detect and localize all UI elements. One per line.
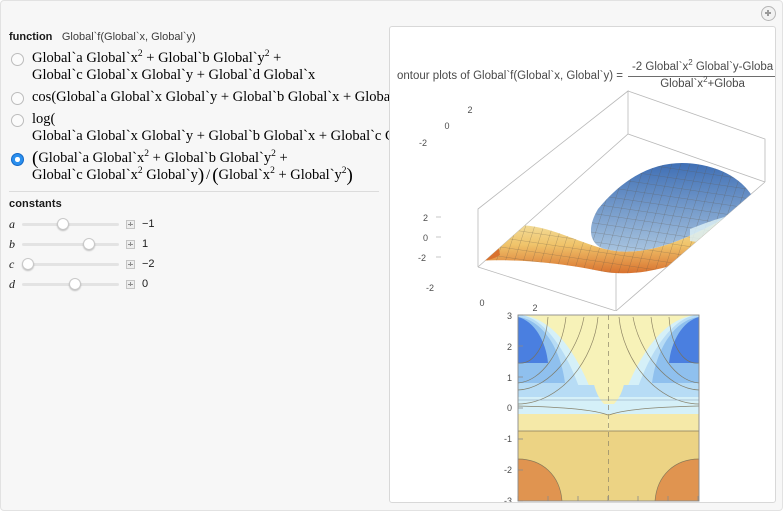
radio-option-cosine[interactable]: cos(Global`a Global`x Global`y + Global`… (11, 88, 381, 106)
svg-text:0: 0 (507, 403, 512, 413)
slider-label-b: b (9, 237, 22, 252)
slider-a[interactable] (22, 216, 119, 232)
plus-circle-icon[interactable] (761, 6, 776, 21)
radio-option-quadratic[interactable]: Global`a Global`x2 + Global`b Global`y2 … (11, 49, 381, 84)
function-section-label: function (9, 31, 52, 43)
radio-option-rational[interactable]: (Global`a Global`x2 + Global`b Global`y2… (11, 149, 381, 184)
function-section-header: function Global`f(Global`x, Global`y) (1, 27, 387, 49)
demonstration-window: function Global`f(Global`x, Global`y) Gl… (0, 0, 783, 511)
slider-row-a: a −1 (1, 214, 387, 234)
function-expression: Global`f(Global`x, Global`y) (62, 31, 196, 43)
radio-option-label: (Global`a Global`x2 + Global`b Global`y2… (32, 149, 353, 184)
surface-x-axis: -2 0 2 (426, 283, 538, 311)
svg-text:2: 2 (507, 342, 512, 352)
radio-icon[interactable] (11, 153, 24, 166)
slider-value-c: −2 (142, 258, 164, 270)
slider-label-a: a (9, 217, 22, 232)
slider-thumb-d[interactable] (69, 278, 81, 290)
svg-text:2: 2 (467, 105, 472, 115)
contour-plot: 3 2 1 0 -1 -2 -3 (390, 311, 776, 503)
svg-text:2: 2 (423, 213, 428, 223)
svg-text:0: 0 (423, 233, 428, 243)
svg-text:1: 1 (507, 373, 512, 383)
slider-track[interactable] (22, 243, 119, 246)
surface-y-axis: 2 0 -2 (419, 105, 473, 148)
svg-text:-2: -2 (504, 465, 512, 475)
fraction-numerator: -2 Global`x2 Global`y-Globa (628, 61, 776, 75)
controls-panel: function Global`f(Global`x, Global`y) Gl… (1, 23, 387, 294)
slider-thumb-a[interactable] (57, 218, 69, 230)
plus-box-icon[interactable] (126, 220, 135, 229)
plus-box-icon[interactable] (126, 260, 135, 269)
svg-text:0: 0 (479, 298, 484, 308)
function-radio-group[interactable]: Global`a Global`x2 + Global`b Global`y2 … (1, 49, 387, 184)
slider-thumb-c[interactable] (22, 258, 34, 270)
surface-z-axis: 2 0 -2 (418, 213, 441, 263)
slider-track[interactable] (22, 263, 119, 266)
output-panel: ontour plots of Global`f(Global`x, Globa… (389, 26, 776, 503)
slider-label-c: c (9, 257, 22, 272)
slider-row-d: d 0 (1, 274, 387, 294)
slider-track[interactable] (22, 223, 119, 226)
slider-b[interactable] (22, 236, 119, 252)
surface-plot-svg: 2 0 -2 2 0 -2 (390, 89, 776, 311)
constants-section-label: constants (1, 198, 387, 210)
svg-text:2: 2 (532, 303, 537, 311)
radio-icon[interactable] (11, 114, 24, 127)
window-topbar (1, 1, 783, 23)
svg-text:0: 0 (444, 121, 449, 131)
plot-title-fraction: -2 Global`x2 Global`y-Globa Global`x2+Gl… (628, 61, 776, 90)
slider-row-b: b 1 (1, 234, 387, 254)
slider-d[interactable] (22, 276, 119, 292)
contour-regions (518, 315, 699, 501)
plus-box-icon[interactable] (126, 240, 135, 249)
slider-thumb-b[interactable] (83, 238, 95, 250)
plus-box-icon[interactable] (126, 280, 135, 289)
svg-text:-3: -3 (504, 496, 512, 503)
constants-sliders: a −1 b 1 c (1, 210, 387, 294)
radio-icon[interactable] (11, 53, 24, 66)
svg-text:-2: -2 (426, 283, 434, 293)
slider-value-d: 0 (142, 278, 164, 290)
slider-value-b: 1 (142, 238, 164, 250)
contour-plot-svg: 3 2 1 0 -1 -2 -3 (390, 311, 776, 503)
radio-option-label: Global`a Global`x2 + Global`b Global`y2 … (32, 49, 315, 84)
plot-title: ontour plots of Global`f(Global`x, Globa… (390, 59, 776, 93)
surface-plot: 2 0 -2 2 0 -2 (390, 89, 776, 311)
section-divider (9, 191, 379, 192)
svg-text:3: 3 (507, 311, 512, 321)
plot-title-prefix: ontour plots of Global`f(Global`x, Globa… (397, 70, 623, 82)
slider-row-c: c −2 (1, 254, 387, 274)
slider-c[interactable] (22, 256, 119, 272)
svg-text:-1: -1 (504, 434, 512, 444)
radio-icon[interactable] (11, 92, 24, 105)
svg-text:-2: -2 (419, 138, 427, 148)
radio-option-log[interactable]: log( Global`a Global`x Global`y + Global… (11, 110, 381, 145)
svg-text:-2: -2 (418, 253, 426, 263)
slider-label-d: d (9, 277, 22, 292)
surface-mesh (478, 163, 766, 273)
slider-value-a: −1 (142, 218, 164, 230)
